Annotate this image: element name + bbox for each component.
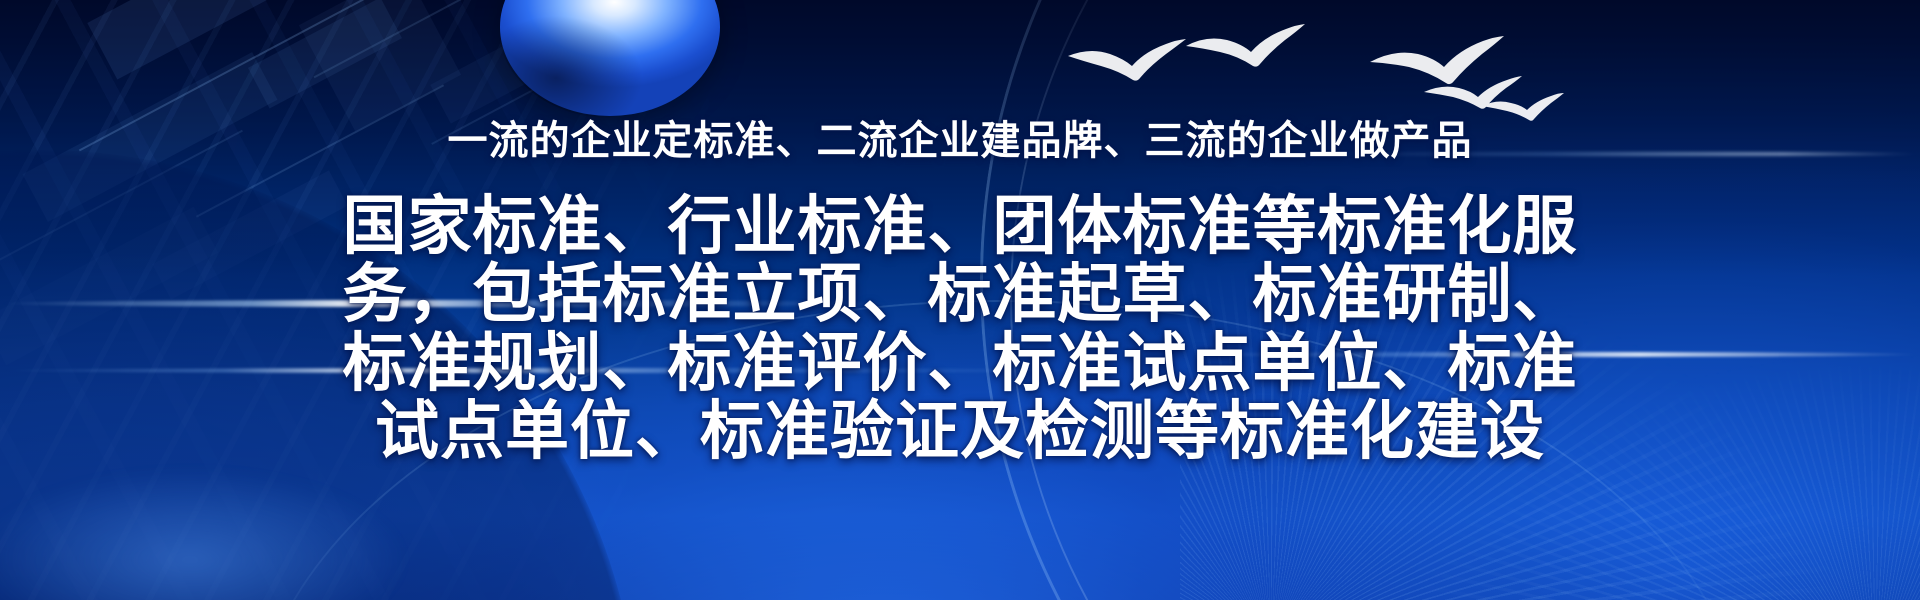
body-line-3: 标准规划、标准评价、标准试点单位、标准 (325, 329, 1595, 397)
banner-body: 国家标准、行业标准、团体标准等标准化服 务，包括标准立项、标准起草、标准研制、 … (325, 192, 1595, 466)
body-line-4: 试点单位、标准验证及检测等标准化建设 (325, 397, 1595, 465)
banner-headline: 一流的企业定标准、二流企业建品牌、三流的企业做产品 (448, 118, 1473, 164)
body-line-1: 国家标准、行业标准、团体标准等标准化服 (325, 192, 1595, 260)
body-line-2: 务，包括标准立项、标准起草、标准研制、 (325, 260, 1595, 328)
banner-hero: 一流的企业定标准、二流企业建品牌、三流的企业做产品 国家标准、行业标准、团体标准… (0, 0, 1920, 600)
text-content: 一流的企业定标准、二流企业建品牌、三流的企业做产品 国家标准、行业标准、团体标准… (0, 0, 1920, 600)
